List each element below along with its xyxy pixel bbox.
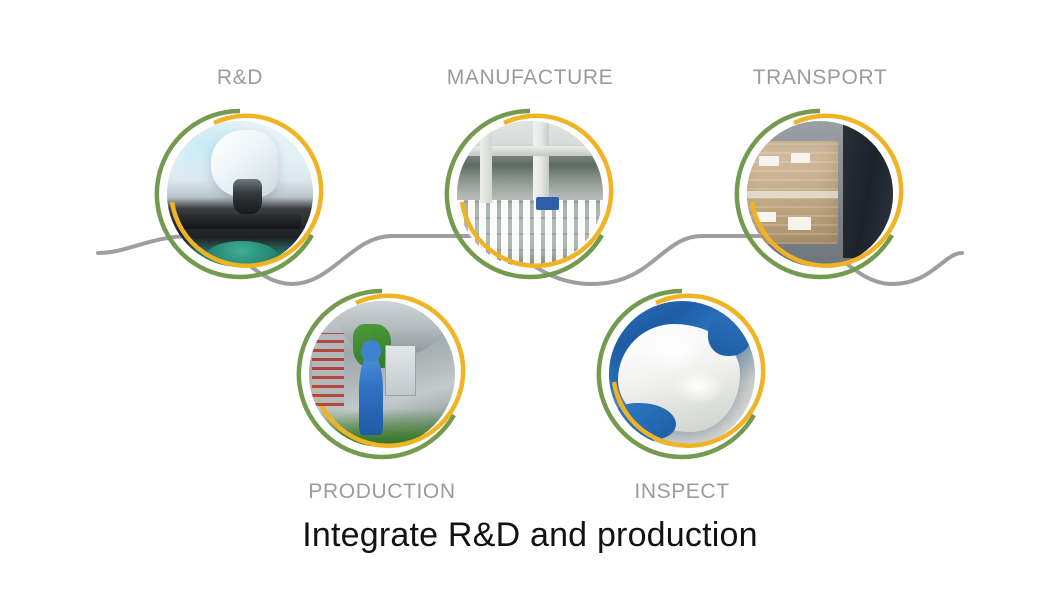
arc-yellow-transport: [752, 116, 901, 266]
process-node-transport[interactable]: TRANSPORT: [732, 106, 908, 282]
arc-yellow-inspect: [614, 296, 763, 446]
process-node-inspect[interactable]: INSPECT: [594, 286, 770, 462]
process-node-production[interactable]: PRODUCTION: [294, 286, 470, 462]
node-ring-transport: [732, 106, 908, 282]
page-title: Integrate R&D and production: [0, 516, 1060, 555]
ring-arcs-manufacture: [442, 106, 618, 282]
cleanroom-worker-icon: [359, 354, 384, 436]
node-label-transport: TRANSPORT: [753, 66, 888, 90]
node-ring-manufacture: [442, 106, 618, 282]
node-ring-inspect: [594, 286, 770, 462]
node-label-inspect: INSPECT: [634, 480, 729, 504]
ring-arcs-rd: [152, 106, 328, 282]
machine-pipes-icon: [312, 333, 344, 406]
node-label-manufacture: MANUFACTURE: [447, 66, 613, 90]
node-ring-production: [294, 286, 470, 462]
control-panel-icon: [385, 345, 416, 397]
ring-arcs-transport: [732, 106, 908, 282]
process-node-manufacture[interactable]: MANUFACTURE: [442, 106, 618, 282]
arc-yellow-manufacture: [462, 116, 611, 266]
node-label-rd: R&D: [217, 66, 263, 90]
arc-yellow-rd: [172, 116, 321, 266]
node-ring-rd: [152, 106, 328, 282]
process-node-rd[interactable]: R&D: [152, 106, 328, 282]
infographic-canvas: R&D MANUFACTURE: [0, 0, 1060, 596]
ring-arcs-inspect: [594, 286, 770, 462]
node-label-production: PRODUCTION: [308, 480, 455, 504]
